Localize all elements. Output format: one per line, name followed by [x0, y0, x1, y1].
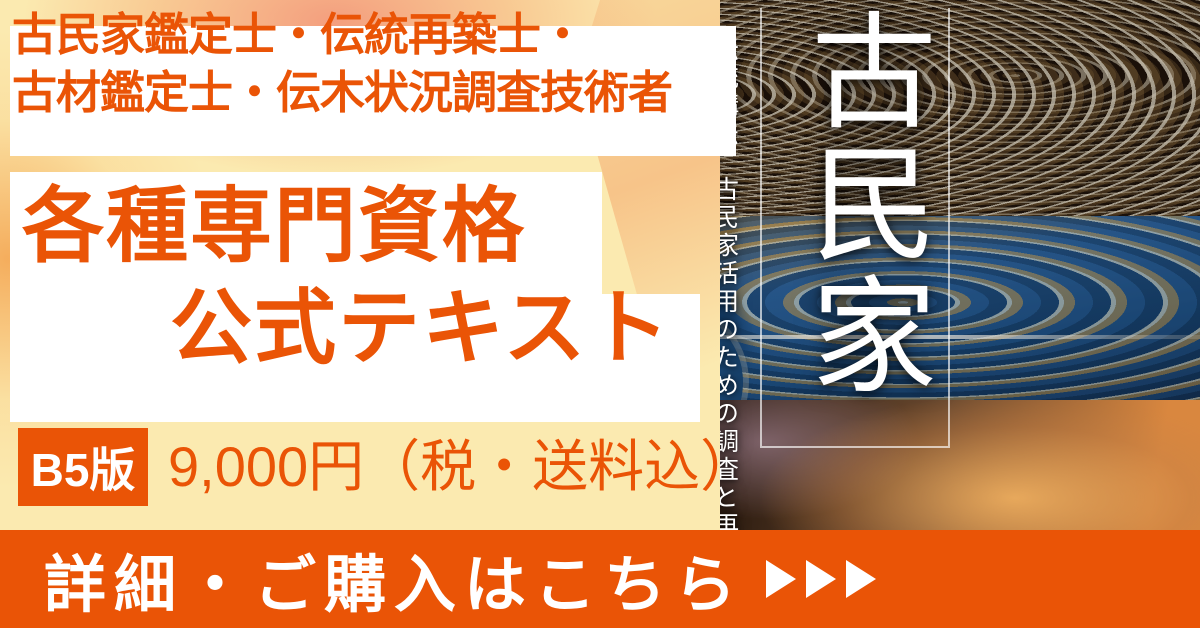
cta-bar[interactable]: 詳細・ご購入はこちら	[0, 530, 1200, 628]
headline-line-1: 各種専門資格	[22, 186, 526, 268]
headline-line-2: 公式テキスト	[170, 288, 672, 370]
price-text: 9,000円（税・送料込）	[168, 432, 756, 502]
promo-banner: 古民家 伝統構法 古民家活用のための調査と再生の 古民家鑑定士・伝統再築士・ 古…	[0, 0, 1200, 628]
size-badge-label: B5版	[31, 434, 136, 500]
play-arrow-icon	[806, 560, 836, 598]
cta-arrow-group	[766, 560, 876, 598]
qualifications-text: 古民家鑑定士・伝統再築士・ 古材鑑定士・伝木状況調査技術者	[12, 6, 672, 121]
size-badge: B5版	[18, 428, 148, 506]
play-arrow-icon	[766, 560, 796, 598]
play-arrow-icon	[846, 560, 876, 598]
cover-title-vertical: 古民家	[768, 6, 928, 402]
cta-label[interactable]: 詳細・ご購入はこちら	[44, 534, 744, 624]
